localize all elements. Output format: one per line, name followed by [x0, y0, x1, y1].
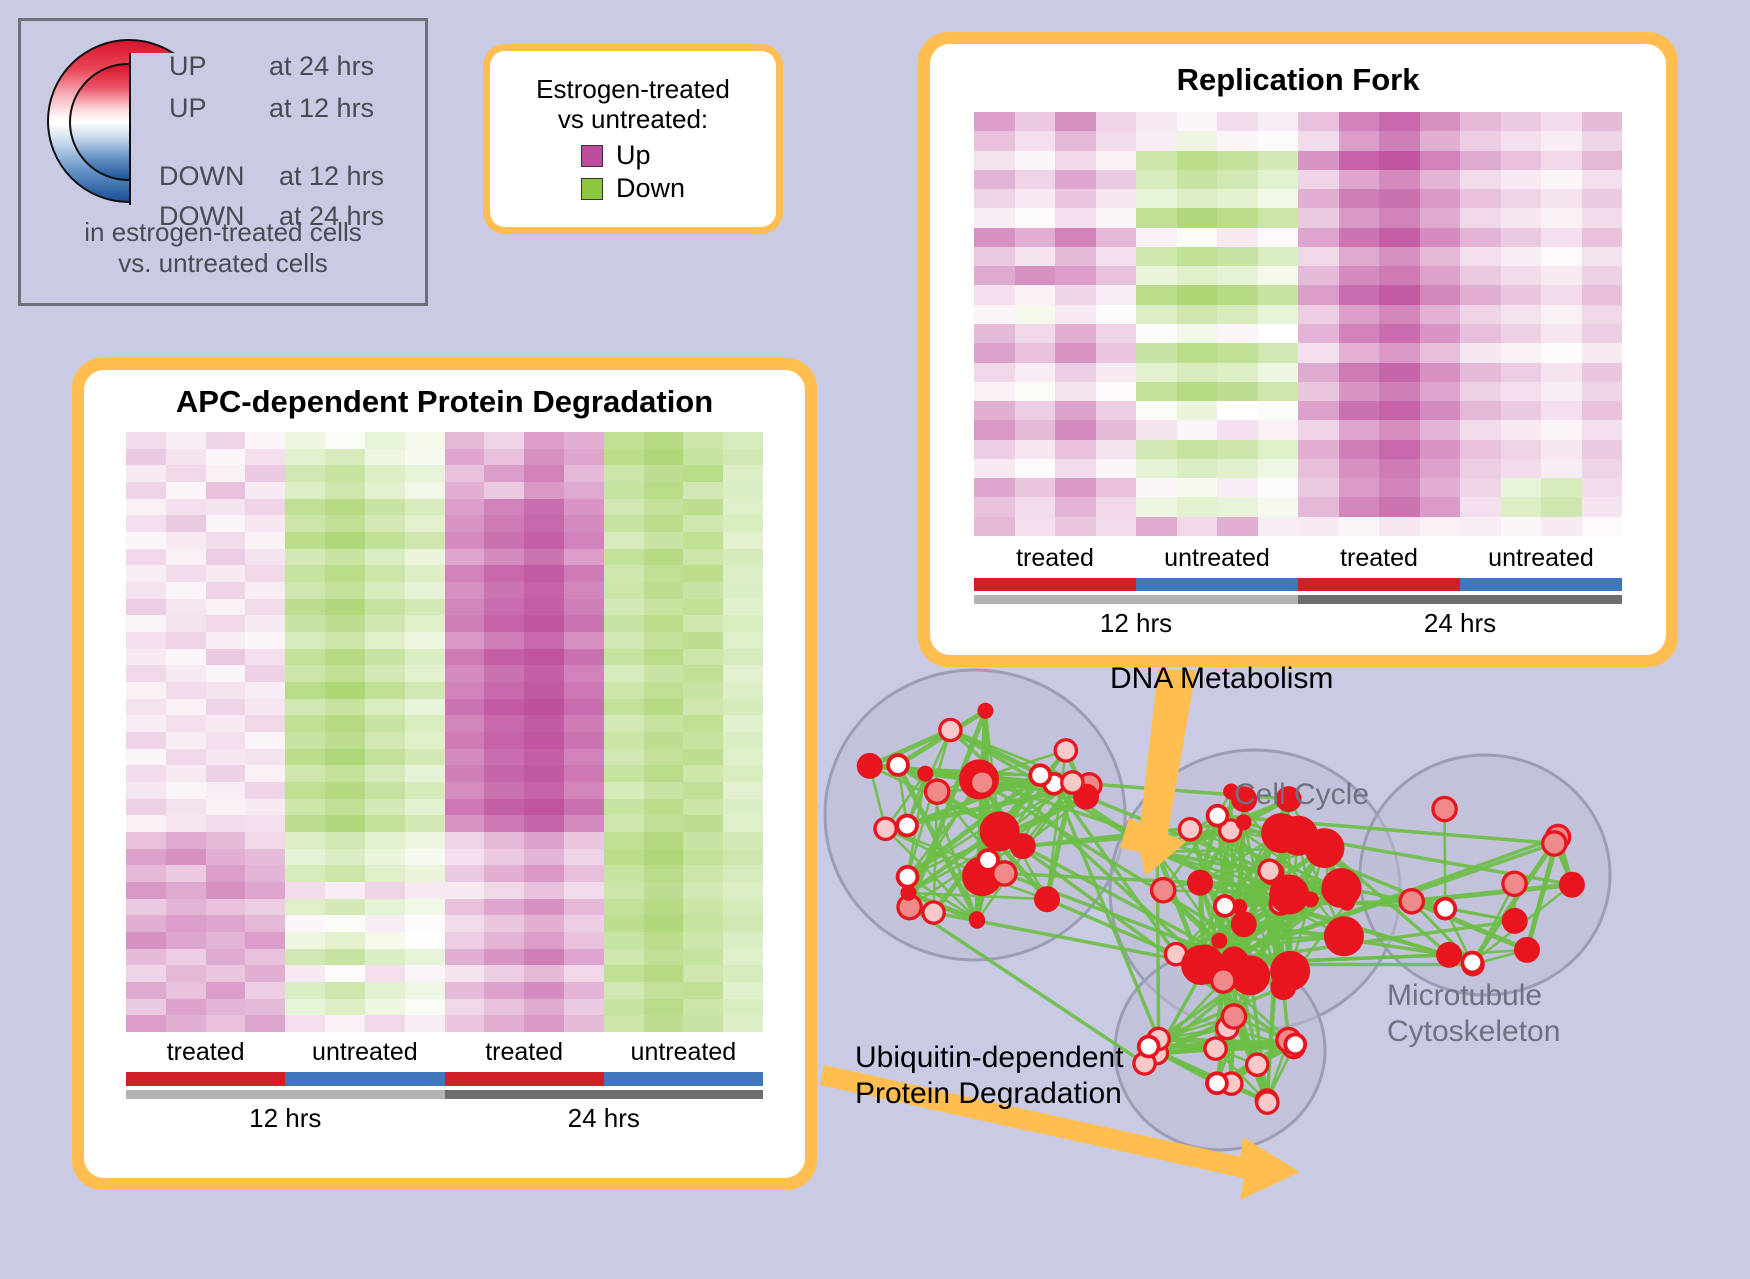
heatmap-cell: [723, 615, 763, 632]
heatmap-cell: [126, 515, 166, 532]
heatmap-cell: [1541, 266, 1582, 285]
heatmap-cell: [206, 565, 246, 582]
heatmap-cell: [245, 799, 285, 816]
heatmap-cell: [974, 151, 1015, 170]
heatmap-cell: [1298, 189, 1339, 208]
heatmap-cell: [1460, 151, 1501, 170]
time-bar: [126, 1090, 445, 1099]
heatmap-cell: [1298, 363, 1339, 382]
heatmap-cell: [644, 915, 684, 932]
heatmap-cell: [1420, 189, 1461, 208]
network-node: [1141, 1039, 1157, 1055]
heatmap-cell: [1582, 131, 1623, 150]
heatmap-cell: [1096, 305, 1137, 324]
heatmap-cell: [1096, 420, 1137, 439]
heatmap-cell: [325, 915, 365, 932]
heatmap-cell: [166, 715, 206, 732]
network-node: [972, 772, 992, 792]
heatmap-cell: [723, 715, 763, 732]
heatmap-cell: [683, 949, 723, 966]
heatmap-cell: [723, 599, 763, 616]
heatmap-cell: [1136, 285, 1177, 304]
heatmap-cell: [1339, 401, 1380, 420]
heatmap-cell: [644, 515, 684, 532]
heatmap-cell: [1217, 497, 1258, 516]
heatmap-cell: [723, 465, 763, 482]
heatmap-cell: [445, 949, 485, 966]
heatmap-cell: [285, 482, 325, 499]
heatmap-cell: [1136, 228, 1177, 247]
heatmap-cell: [285, 832, 325, 849]
heatmap-cell: [484, 615, 524, 632]
heatmap-cell: [1015, 478, 1056, 497]
heatmap-cell: [1339, 208, 1380, 227]
heatmap-cell: [126, 582, 166, 599]
heatmap-cell: [1217, 247, 1258, 266]
heatmap-cell: [405, 965, 445, 982]
heatmap-cell: [325, 815, 365, 832]
heatmap-cell: [1582, 459, 1623, 478]
heatmap-cell: [245, 815, 285, 832]
condition-label: treated: [974, 544, 1136, 576]
heatmap-cell: [604, 732, 644, 749]
time-bar: [445, 1090, 764, 1099]
heatmap-cell: [206, 682, 246, 699]
heatmap-cell: [604, 749, 644, 766]
heatmap-cell: [206, 482, 246, 499]
heatmap-cell: [1136, 363, 1177, 382]
heatmap-cell: [1582, 285, 1623, 304]
heatmap-cell: [445, 749, 485, 766]
heatmap-cell: [405, 882, 445, 899]
heatmap-cell: [564, 615, 604, 632]
heatmap-cell: [1582, 497, 1623, 516]
heatmap-cell: [405, 499, 445, 516]
heatmap-cell: [1501, 517, 1542, 536]
heatmap-cell: [126, 982, 166, 999]
heatmap-cell: [1136, 189, 1177, 208]
heatmap-cell: [325, 765, 365, 782]
heatmap-cell: [1501, 478, 1542, 497]
heatmap-cell: [644, 1015, 684, 1032]
heatmap-cell: [1217, 401, 1258, 420]
heatmap-cell: [365, 965, 405, 982]
heatmap-cell: [564, 999, 604, 1016]
heatmap-cell: [564, 649, 604, 666]
heatmap-cell: [1379, 497, 1420, 516]
heatmap-cell: [1298, 228, 1339, 247]
heatmap-cell: [683, 732, 723, 749]
figure-canvas: UP at 24 hrs UP at 12 hrs DOWN at 12 hrs…: [0, 0, 1750, 1279]
heatmap-cell: [1541, 478, 1582, 497]
heatmap-cell: [166, 915, 206, 932]
heatmap-cell: [644, 665, 684, 682]
heatmap-cell: [1096, 170, 1137, 189]
heatmap-cell: [1217, 420, 1258, 439]
heatmap-cell: [445, 765, 485, 782]
heatmap-cell: [484, 899, 524, 916]
heatmap-cell: [365, 749, 405, 766]
cluster-label-ubiquitin-line1: Ubiquitin-dependent: [855, 1040, 1124, 1076]
heatmap-cell: [1055, 363, 1096, 382]
heatmap-cell: [126, 449, 166, 466]
network-node: [1261, 862, 1279, 880]
heatmap-cell: [1136, 420, 1177, 439]
heatmap-cell: [1055, 266, 1096, 285]
heatmap-cell: [445, 982, 485, 999]
heatmap-cell: [166, 499, 206, 516]
heatmap-cell: [325, 649, 365, 666]
network-node: [1304, 828, 1344, 868]
heatmap-cell: [1460, 305, 1501, 324]
heatmap-cell: [285, 782, 325, 799]
heatmap-cell: [484, 699, 524, 716]
heatmap-cell: [1420, 497, 1461, 516]
heatmap-cell: [206, 615, 246, 632]
heatmap-cell: [644, 649, 684, 666]
heatmap-cell: [325, 832, 365, 849]
heatmap-cell: [365, 482, 405, 499]
network-node: [877, 820, 895, 838]
heatmap-cell: [1096, 228, 1137, 247]
heatmap-cell: [484, 449, 524, 466]
network-edge: [1445, 809, 1446, 909]
heatmap-cell: [166, 682, 206, 699]
heatmap-cell: [524, 732, 564, 749]
network-node: [1032, 767, 1048, 783]
network-node: [1321, 883, 1337, 899]
heatmap-cell: [723, 932, 763, 949]
heatmap-cell: [1096, 131, 1137, 150]
heatmap-cell: [285, 665, 325, 682]
heatmap-cell: [524, 832, 564, 849]
heatmap-cell: [683, 799, 723, 816]
heatmap-cell: [1258, 478, 1299, 497]
heatmap-cell: [524, 815, 564, 832]
heatmap-cell: [1258, 343, 1299, 362]
time-label: 24 hrs: [445, 1103, 764, 1135]
heatmap-cell: [1420, 459, 1461, 478]
heatmap-cell: [604, 799, 644, 816]
heatmap-cell: [1177, 151, 1218, 170]
heatmap-cell: [1258, 363, 1299, 382]
heatmap-cell: [1582, 363, 1623, 382]
heatmap-cell: [1541, 208, 1582, 227]
heatmap-cell: [405, 999, 445, 1016]
heatmap-cell: [1339, 228, 1380, 247]
heatmap-cell: [564, 865, 604, 882]
heatmap-cell: [974, 305, 1015, 324]
heatmap-cell: [1217, 478, 1258, 497]
heatmap-cell: [1501, 131, 1542, 150]
heatmap-cell: [564, 632, 604, 649]
heatmap-cell: [604, 932, 644, 949]
heatmap-cell: [1420, 131, 1461, 150]
heatmap-cell: [365, 599, 405, 616]
network-node: [927, 782, 947, 802]
heatmap-cell: [126, 599, 166, 616]
heatmap-cell: [1339, 112, 1380, 131]
heatmap-cell: [166, 949, 206, 966]
heatmap-cell: [1541, 151, 1582, 170]
heatmap-cell: [245, 549, 285, 566]
heatmap-cell: [1420, 208, 1461, 227]
heatmap-cell: [126, 815, 166, 832]
heatmap-cell: [1379, 401, 1420, 420]
panel-title-apc: APC-dependent Protein Degradation: [84, 384, 805, 420]
heatmap-cell: [166, 965, 206, 982]
network-node: [969, 913, 985, 929]
heatmap-cell: [1298, 305, 1339, 324]
heatmap-cell: [524, 549, 564, 566]
heatmap-cell: [1055, 324, 1096, 343]
heatmap-cell: [365, 532, 405, 549]
heatmap-cell: [126, 999, 166, 1016]
heatmap-cell: [604, 832, 644, 849]
heatmap-cell: [1096, 189, 1137, 208]
heatmap-cell: [1460, 266, 1501, 285]
heatmap-cell: [564, 565, 604, 582]
heatmap-cell: [723, 915, 763, 932]
heatmap-cell: [1258, 189, 1299, 208]
heatmap-cell: [723, 432, 763, 449]
heatmap-cell: [1177, 517, 1218, 536]
heatmap-cell: [723, 699, 763, 716]
heatmap-cell: [683, 982, 723, 999]
heatmap-cell: [405, 682, 445, 699]
key-term-up-24: UP: [169, 51, 207, 82]
heatmap-cell: [405, 732, 445, 749]
heatmap-cell: [325, 682, 365, 699]
heatmap-cell: [285, 515, 325, 532]
legend-circle-key: UP at 24 hrs UP at 12 hrs DOWN at 12 hrs…: [18, 18, 428, 306]
heatmap-cell: [1379, 285, 1420, 304]
heatmap-cell: [974, 363, 1015, 382]
heatmap-cell: [644, 965, 684, 982]
circle-divider: [129, 53, 131, 205]
heatmap-cell: [166, 899, 206, 916]
heatmap-cell: [1217, 151, 1258, 170]
heatmap-cell: [325, 865, 365, 882]
heatmap-cell: [564, 499, 604, 516]
heatmap-cell: [1501, 266, 1542, 285]
heatmap-cell: [604, 1015, 644, 1032]
heatmap-cell: [1015, 401, 1056, 420]
heatmap-cell: [1217, 170, 1258, 189]
heatmap-cell: [405, 482, 445, 499]
heatmap-cell: [644, 949, 684, 966]
network-node: [1213, 971, 1233, 991]
heatmap-cell: [126, 532, 166, 549]
heatmap-cell: [285, 532, 325, 549]
heatmap-cell: [524, 615, 564, 632]
heatmap-cell: [564, 449, 604, 466]
pathway-network-graph: [800, 600, 1750, 1279]
heatmap-cell: [285, 882, 325, 899]
heatmap-cell: [126, 899, 166, 916]
heatmap-cell: [974, 517, 1015, 536]
heatmap-cell: [1501, 112, 1542, 131]
heatmap-cell: [974, 112, 1015, 131]
heatmap-cell: [1096, 285, 1137, 304]
heatmap-cell: [1501, 401, 1542, 420]
heatmap-cell: [365, 832, 405, 849]
network-node: [925, 904, 943, 922]
heatmap-cell: [1055, 440, 1096, 459]
heatmap-cell: [1501, 170, 1542, 189]
heatmap-cell: [285, 699, 325, 716]
heatmap-cell: [604, 965, 644, 982]
heatmap-cell: [524, 665, 564, 682]
heatmap-cell: [206, 749, 246, 766]
heatmap-cell: [445, 832, 485, 849]
heatmap-cell: [1460, 401, 1501, 420]
heatmap-cell: [325, 732, 365, 749]
heatmap-cell: [1582, 478, 1623, 497]
heatmap-cell: [445, 715, 485, 732]
heatmap-cell: [1501, 228, 1542, 247]
heatmap-cell: [723, 565, 763, 582]
heatmap-cell: [325, 599, 365, 616]
heatmap-cell: [166, 632, 206, 649]
heatmap-cell: [285, 1015, 325, 1032]
heatmap-cell: [405, 1015, 445, 1032]
heatmap-cell: [445, 915, 485, 932]
heatmap-cell: [126, 782, 166, 799]
heatmap-cell: [1015, 440, 1056, 459]
heatmap-cell: [166, 849, 206, 866]
heatmap-cell: [1339, 324, 1380, 343]
heatmap-cell: [325, 899, 365, 916]
heatmap-cell: [683, 965, 723, 982]
heatmap-cell: [974, 420, 1015, 439]
heatmap-cell: [166, 432, 206, 449]
heatmap-cell: [683, 782, 723, 799]
heatmap-cell: [1339, 459, 1380, 478]
heatmap-cell: [285, 815, 325, 832]
heatmap-cell: [325, 665, 365, 682]
heatmap-cell: [206, 765, 246, 782]
heatmap-cell: [1177, 247, 1218, 266]
heatmap-cell: [206, 982, 246, 999]
heatmap-cell: [1055, 459, 1096, 478]
heatmap-cell: [1420, 228, 1461, 247]
heatmap-cell: [1298, 478, 1339, 497]
heatmap-cell: [1136, 440, 1177, 459]
heatmap-cell: [723, 482, 763, 499]
heatmap-cell: [1055, 285, 1096, 304]
heatmap-cell: [644, 982, 684, 999]
heatmap-cell: [683, 599, 723, 616]
key-term-up-12: UP: [169, 93, 207, 124]
heatmap-cell: [604, 532, 644, 549]
heatmap-cell: [285, 632, 325, 649]
heatmap-cell: [524, 582, 564, 599]
heatmap-cell: [1055, 420, 1096, 439]
heatmap-cell: [285, 565, 325, 582]
heatmap-cell: [325, 882, 365, 899]
heatmap-cell: [1136, 151, 1177, 170]
heatmap-cell: [564, 665, 604, 682]
heatmap-cell: [405, 865, 445, 882]
heatmap-cell: [644, 615, 684, 632]
heatmap-cell: [1015, 131, 1056, 150]
heatmap-cell: [285, 999, 325, 1016]
heatmap-cell: [723, 515, 763, 532]
heatmap-cell: [1258, 324, 1299, 343]
heatmap-cell: [445, 449, 485, 466]
heatmap-cell: [245, 515, 285, 532]
heatmap-cell: [126, 865, 166, 882]
heatmap-cell: [524, 782, 564, 799]
heatmap-cell: [1582, 382, 1623, 401]
heatmap-cell: [683, 665, 723, 682]
heatmap-cell: [683, 632, 723, 649]
heatmap-cell: [245, 832, 285, 849]
heatmap-cell: [126, 615, 166, 632]
heatmap-cell: [325, 482, 365, 499]
heatmap-cell: [484, 715, 524, 732]
heatmap-cell: [564, 582, 604, 599]
panel-replication-fork: Replication Fork treateduntreatedtreated…: [918, 32, 1678, 667]
heatmap-cell: [484, 949, 524, 966]
heatmap-cell: [1055, 517, 1096, 536]
heatmap-cell: [365, 915, 405, 932]
heatmap-cell: [1298, 170, 1339, 189]
heatmap-cell: [644, 582, 684, 599]
heatmap-cell: [604, 582, 644, 599]
heatmap-cell: [325, 949, 365, 966]
heatmap-cell: [206, 499, 246, 516]
heatmap-cell: [1420, 440, 1461, 459]
heatmap-cell: [1501, 363, 1542, 382]
heatmap-cell: [1136, 266, 1177, 285]
heatmap-cell: [206, 699, 246, 716]
network-node: [1211, 933, 1227, 949]
heatmap-cell: [974, 266, 1015, 285]
heatmap-cell: [365, 432, 405, 449]
heatmap-cell: [325, 1015, 365, 1032]
condition-label: treated: [1298, 544, 1460, 576]
heatmap-cell: [365, 649, 405, 666]
heatmap-cell: [445, 665, 485, 682]
heatmap-cell: [325, 999, 365, 1016]
heatmap-cell: [484, 649, 524, 666]
heatmap-cell: [445, 632, 485, 649]
heatmap-cell: [524, 632, 564, 649]
heatmap-cell: [365, 765, 405, 782]
heatmap-cell: [1177, 112, 1218, 131]
heatmap-cell: [445, 432, 485, 449]
heatmap-cell: [405, 982, 445, 999]
heatmap-cell: [405, 649, 445, 666]
heatmap-cell: [365, 999, 405, 1016]
heatmap-cell: [325, 499, 365, 516]
heatmap-cell: [445, 482, 485, 499]
heatmap-cell: [365, 949, 405, 966]
legend-item-up-label: Up: [616, 140, 651, 171]
heatmap-cell: [126, 632, 166, 649]
heatmap-cell: [644, 882, 684, 899]
heatmap-cell: [1298, 131, 1339, 150]
heatmap-cell: [974, 189, 1015, 208]
heatmap-cell: [1420, 401, 1461, 420]
heatmap-cell: [564, 432, 604, 449]
heatmap-cell: [1217, 517, 1258, 536]
heatmap-cell: [484, 782, 524, 799]
heatmap-cell: [1541, 363, 1582, 382]
time-labels-apc: 12 hrs24 hrs: [126, 1103, 763, 1135]
